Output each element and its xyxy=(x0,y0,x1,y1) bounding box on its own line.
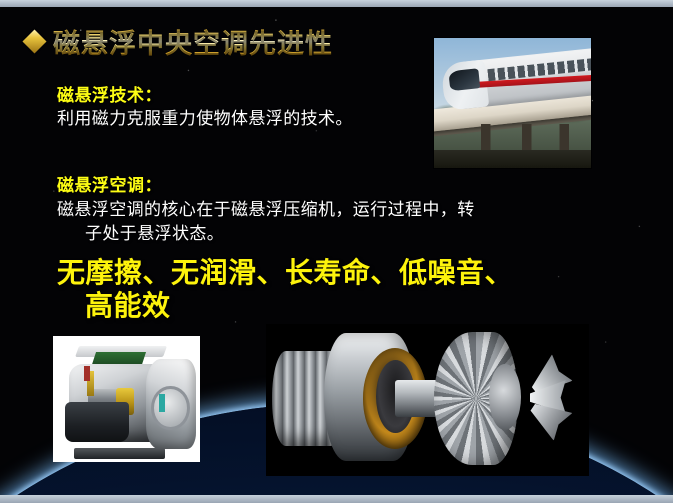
section-heading-maglev-hvac: 磁悬浮空调： xyxy=(57,171,162,196)
maglev-train-photo xyxy=(434,38,591,168)
compressor-teal-part xyxy=(159,394,165,412)
highlight-line-1: 无摩擦、无润滑、长寿命、低噪音、 xyxy=(57,256,513,289)
viewer-top-bar xyxy=(0,0,673,7)
magnetic-bearing-rotor-render xyxy=(266,324,589,476)
train-ground xyxy=(434,150,591,168)
impeller-hub-face xyxy=(489,364,521,431)
viewer-bottom-bar xyxy=(0,495,673,503)
page-title: 磁悬浮中央空调先进性 xyxy=(53,22,333,61)
compressor-base-foot xyxy=(74,448,165,459)
section-body-line-1: 磁悬浮空调的核心在于磁悬浮压缩机，运行过程中，转 xyxy=(57,200,475,220)
impeller-blades xyxy=(524,360,576,436)
presentation-slide: 磁悬浮中央空调先进性 磁悬浮技术： 利用磁力克服重力使物体悬浮的技术。 磁悬浮空… xyxy=(0,0,673,503)
section-body-line-2: 子处于悬浮状态。 xyxy=(57,222,549,246)
train-cab-windshield xyxy=(449,68,481,91)
highlight-line-2: 高能效 xyxy=(57,289,587,322)
highlight-benefits: 无摩擦、无润滑、长寿命、低噪音、 高能效 xyxy=(57,256,587,322)
diamond-bullet-icon xyxy=(22,29,46,53)
slide-title-row: 磁悬浮中央空调先进性 xyxy=(26,22,333,61)
compressor-red-component xyxy=(84,366,90,381)
compressor-inlet-ring xyxy=(151,386,189,430)
section-heading-maglev-tech: 磁悬浮技术： xyxy=(57,81,162,106)
compressor-cutaway-photo xyxy=(53,336,200,462)
compressor-oil-sump xyxy=(65,402,130,442)
section-body-maglev-hvac: 磁悬浮空调的核心在于磁悬浮压缩机，运行过程中，转 子处于悬浮状态。 xyxy=(57,198,549,246)
